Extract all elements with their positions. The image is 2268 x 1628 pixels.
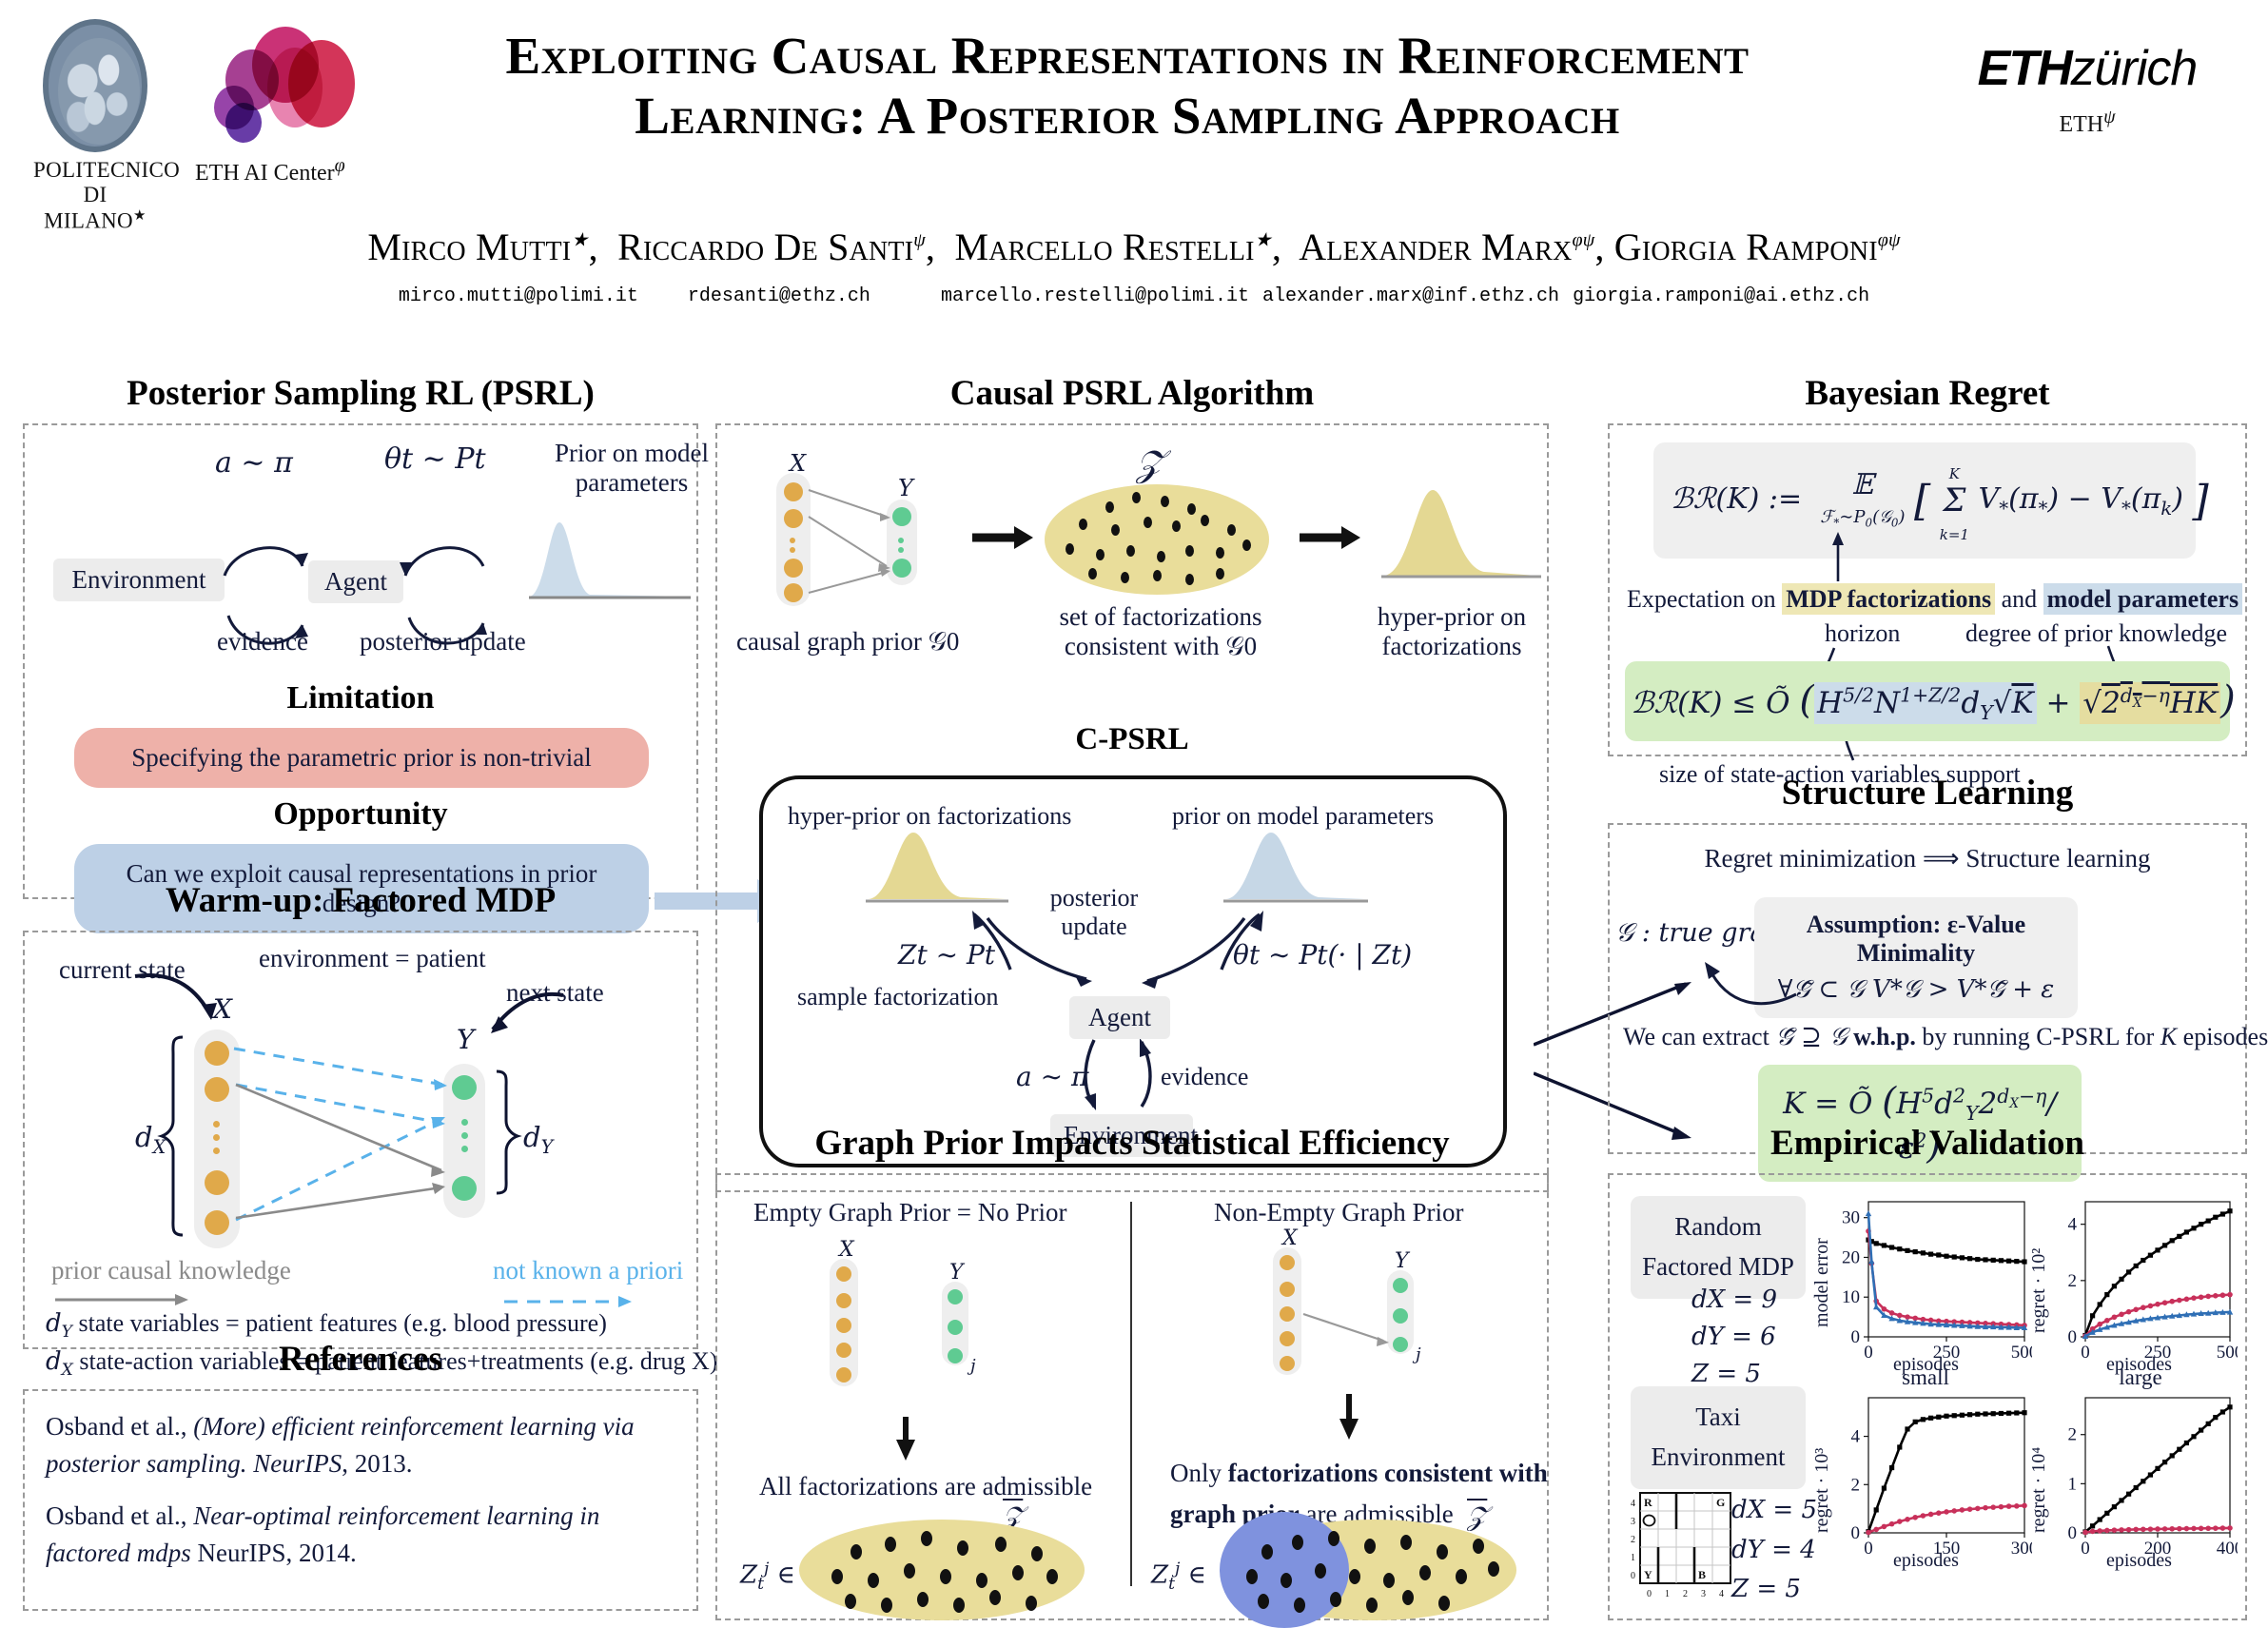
psrl-title: Posterior Sampling RL (PSRL) (23, 373, 698, 414)
author-1: Mirco Mutti★, (367, 226, 597, 268)
svg-text:2: 2 (1631, 1535, 1635, 1545)
polimi-label: POLITECNICO DI MILANO★ (33, 158, 157, 233)
empirical-validation-body: RandomFactored MDP dX = 9 dY = 6 Z = 5 0… (1608, 1173, 2247, 1620)
causal-psrl-body: X Y (715, 423, 1549, 1192)
svg-text:0: 0 (2081, 1539, 2090, 1559)
author-4: Alexander Marxφψ, (1299, 226, 1604, 268)
svg-text:2: 2 (2068, 1271, 2078, 1291)
chart1-ylabel: regret · 10² (2028, 1248, 2050, 1333)
panel-bayesian-regret: Bayesian Regret ℬℛ(K) := 𝔼 ℱ*∼P0(𝒢0) [ K… (1608, 373, 2247, 756)
structure-learning-title: Structure Learning (1608, 773, 2247, 814)
svg-text:500: 500 (2217, 1343, 2238, 1363)
chart-regret-e2: 0250500024 episodes regret · 10² (2030, 1194, 2238, 1381)
svg-text:3: 3 (1701, 1589, 1706, 1599)
nonempty-zbar-label: 𝒵 (1467, 1501, 1487, 1533)
eth-affiliation-label: ETHψ (1935, 107, 2239, 138)
chart3-title: large (2045, 1365, 2236, 1390)
email-3[interactable]: marcello.restelli@polimi.it (941, 285, 1249, 307)
cpsrl-action-eq: a ∼ π (1016, 1061, 1088, 1092)
author-2: Riccardo De Santiψ, (617, 226, 935, 268)
chart3-xlabel: episodes (2106, 1550, 2172, 1572)
chart2-xlabel: episodes (1893, 1550, 1959, 1572)
env-badge-taxi: TaxiEnvironment (1631, 1386, 1806, 1489)
title-line-2: Learning: A Posterior Sampling Approach (635, 87, 1619, 145)
annot-prior-knowledge: degree of prior knowledge (1965, 619, 2227, 648)
bayesian-regret-body: ℬℛ(K) := 𝔼 ℱ*∼P0(𝒢0) [ K Σ k=1 V*(π*) − … (1608, 423, 2247, 756)
title-line-1: Exploiting Causal Representations in Rei… (505, 27, 1749, 85)
author-list: Mirco Mutti★, Riccardo De Santiψ, Marcel… (0, 225, 2268, 269)
svg-text:0: 0 (2081, 1343, 2090, 1363)
email-4[interactable]: alexander.marx@inf.ethz.ch (1262, 285, 1559, 307)
svg-text:1: 1 (1631, 1553, 1635, 1563)
svg-text:300: 300 (2011, 1539, 2032, 1559)
panel-empirical-validation: Empirical Validation RandomFactored MDP … (1608, 1123, 2247, 1620)
panel-references: References Osband et al., (More) efficie… (23, 1339, 698, 1611)
panel-structure-learning: Structure Learning Regret minimization ⟹… (1608, 773, 2247, 1154)
svg-text:4: 4 (1631, 1499, 1635, 1509)
svg-text:400: 400 (2217, 1539, 2238, 1559)
polimi-line1: POLITECNICO (33, 158, 180, 182)
author-3: Marcello Restelli★, (955, 226, 1282, 268)
panel-graph-prior: Graph Prior Impacts Statistical Efficien… (715, 1123, 1549, 1620)
svg-text:0: 0 (1864, 1539, 1873, 1559)
warmup-title: Warm-up: Factored MDP (23, 880, 698, 921)
email-5[interactable]: giorgia.ramponi@ai.ethz.ch (1573, 285, 1869, 307)
legend-not-known: not known a priori (493, 1256, 683, 1285)
chart2-ylabel: regret · 10³ (1811, 1448, 1833, 1533)
svg-text:0: 0 (2068, 1327, 2078, 1347)
polimi-affil-mark: ★ (133, 207, 147, 224)
warmup-body: current state environment = patient next… (23, 931, 698, 1349)
limitation-box: Specifying the parametric prior is non-t… (74, 728, 649, 788)
cpsrl-set-caption: set of factorizationsconsistent with 𝒢0 (1046, 602, 1275, 662)
svg-text:B: B (1698, 1568, 1706, 1581)
cpsrl-algorithm-box: hyper-prior on factorizations prior on m… (759, 775, 1507, 1167)
cpsrl-graph-caption: causal graph prior 𝒢0 (736, 627, 959, 657)
svg-text:2: 2 (1683, 1589, 1688, 1599)
chart-taxi-small: 0150300024 episodes regret · 10³ (1813, 1390, 2032, 1577)
annot-horizon: horizon (1825, 619, 1900, 648)
svg-text:10: 10 (1842, 1287, 1860, 1307)
poster-root: POLITECNICO DI MILANO★ ETH AI Centerφ Ex… (0, 0, 2268, 1602)
panel-psrl: Posterior Sampling RL (PSRL) a ∼ π θt ∼ … (23, 373, 698, 899)
svg-text:1: 1 (2068, 1474, 2078, 1494)
warmup-edges (25, 932, 700, 1351)
cpsrl-sample-caption: sample factorization (797, 983, 999, 1011)
structure-learning-body: Regret minimization ⟹ Structure learning… (1608, 823, 2247, 1154)
causal-psrl-title: Causal PSRL Algorithm (715, 373, 1549, 414)
warmup-bullet-1: dY state variables = patient features (e… (46, 1309, 607, 1342)
svg-text:20: 20 (1842, 1247, 1860, 1267)
cpsrl-agent-node: Agent (1069, 996, 1170, 1039)
polimi-logo: POLITECNICO DI MILANO★ (33, 19, 157, 176)
reference-item: Osband et al., Near-optimal reinforcemen… (46, 1498, 675, 1572)
regret-bound-box: ℬℛ(K) ≤ Õ (H5/2N1+Z/2dY√K + √2dX−ηHK) (1625, 661, 2230, 741)
page-title: Exploiting Causal Representations in Rei… (342, 27, 1912, 146)
cpsrl-hyper-caption: hyper-prior onfactorizations (1357, 602, 1547, 661)
psrl-evidence-label: evidence (217, 627, 308, 657)
chart3-ylabel: regret · 10⁴ (2028, 1447, 2050, 1533)
empirical-validation-title: Empirical Validation (1608, 1123, 2247, 1164)
poster-header: POLITECNICO DI MILANO★ ETH AI Centerφ Ex… (0, 0, 2268, 333)
ethai-affil-mark: φ (335, 155, 345, 176)
eth-zurich-logo: ETHzürich ETHψ (1935, 40, 2239, 138)
eth-ai-blobs-icon (203, 27, 355, 146)
svg-text:2: 2 (2068, 1425, 2078, 1445)
svg-text:0: 0 (2068, 1523, 2078, 1543)
references-body: Osband et al., (More) efficient reinforc… (23, 1389, 698, 1611)
svg-text:30: 30 (1842, 1208, 1860, 1228)
eth-wordmark: ETHzürich (1935, 40, 2239, 97)
cpsrl-sample-eq: Zt ∼ Pt (898, 939, 995, 971)
eth-ai-center-label: ETH AI Centerφ (195, 155, 395, 186)
svg-text:R: R (1644, 1496, 1652, 1509)
references-title: References (23, 1339, 698, 1380)
svg-text:3: 3 (1631, 1517, 1635, 1527)
svg-text:500: 500 (2011, 1343, 2032, 1363)
cpsrl-posterior-update-label: posteriorupdate (1037, 884, 1151, 941)
svg-text:G: G (1716, 1496, 1725, 1509)
warmup-dy-label: dY (523, 1121, 553, 1158)
graph-prior-body: Empty Graph Prior = No Prior X Y j All f… (715, 1173, 1549, 1620)
warmup-dx-label: dX (135, 1121, 166, 1158)
svg-text:0: 0 (1851, 1327, 1861, 1347)
svg-text:0: 0 (1851, 1523, 1861, 1543)
chart0-ylabel: model error (1811, 1238, 1833, 1327)
graph-prior-title: Graph Prior Impacts Statistical Efficien… (715, 1123, 1549, 1164)
opportunity-heading: Opportunity (25, 796, 696, 833)
author-emails: mirco.mutti@polimi.itrdesanti@ethz.chmar… (0, 285, 2268, 307)
chart-taxi-large: 0200400012 episodes regret · 10⁴ (2030, 1390, 2238, 1577)
svg-text:0: 0 (1647, 1589, 1652, 1599)
panel-causal-psrl: Causal PSRL Algorithm X Y (715, 373, 1549, 1192)
svg-text:Y: Y (1644, 1568, 1652, 1581)
polimi-seal-icon (43, 19, 147, 152)
author-5: Giorgia Ramponiφψ (1614, 226, 1901, 268)
svg-text:1: 1 (1665, 1589, 1670, 1599)
svg-text:4: 4 (1851, 1427, 1861, 1447)
email-2[interactable]: rdesanti@ethz.ch (688, 285, 870, 307)
legend-prior-knowledge: prior causal knowledge (51, 1256, 291, 1285)
panel-warmup: Warm-up: Factored MDP current state envi… (23, 880, 698, 1349)
consistent-subset (1220, 1512, 1349, 1628)
svg-text:2: 2 (1851, 1475, 1861, 1495)
taxi-grid-icon: RGYB4321001234 (1623, 1489, 1745, 1611)
cpsrl-theta-eq: θt ∼ Pt(· | Zt) (1233, 939, 1412, 971)
env2-params: dX = 5 dY = 4 Z = 5 (1731, 1491, 1817, 1610)
chart-model-error: 02505000102030 episodes model error (1813, 1194, 2032, 1381)
bayesian-regret-title: Bayesian Regret (1608, 373, 2247, 414)
svg-text:4: 4 (2068, 1215, 2078, 1235)
svg-text:0: 0 (1631, 1571, 1635, 1581)
chart2-title: small (1830, 1365, 2021, 1390)
svg-text:0: 0 (1864, 1343, 1873, 1363)
nonempty-zt-member: Ztj ∈ (1151, 1559, 1206, 1594)
cpsrl-box-graphics (763, 779, 1511, 1171)
cpsrl-z-symbol: 𝒵 (1136, 442, 1163, 485)
reference-item: Osband et al., (More) efficient reinforc… (46, 1408, 675, 1482)
extract-statement: We can extract 𝒢̃ ⊇ 𝒢 w.h.p. by running … (1623, 1023, 2268, 1052)
limitation-heading: Limitation (25, 680, 696, 716)
svg-text:4: 4 (1719, 1589, 1724, 1599)
cpsrl-box-title: C-PSRL (717, 722, 1547, 757)
bayes-expectation-caption: Expectation on MDP factorizations and mo… (1627, 585, 2242, 614)
psrl-posterior-update-label: posterior update (360, 627, 526, 657)
cpsrl-evidence-label: evidence (1161, 1063, 1248, 1091)
env1-params: dX = 9 dY = 6 Z = 5 (1691, 1282, 1777, 1393)
email-1[interactable]: mirco.mutti@polimi.it (399, 285, 638, 307)
psrl-body: a ∼ π θt ∼ Pt Prior on modelparameters E… (23, 423, 698, 899)
